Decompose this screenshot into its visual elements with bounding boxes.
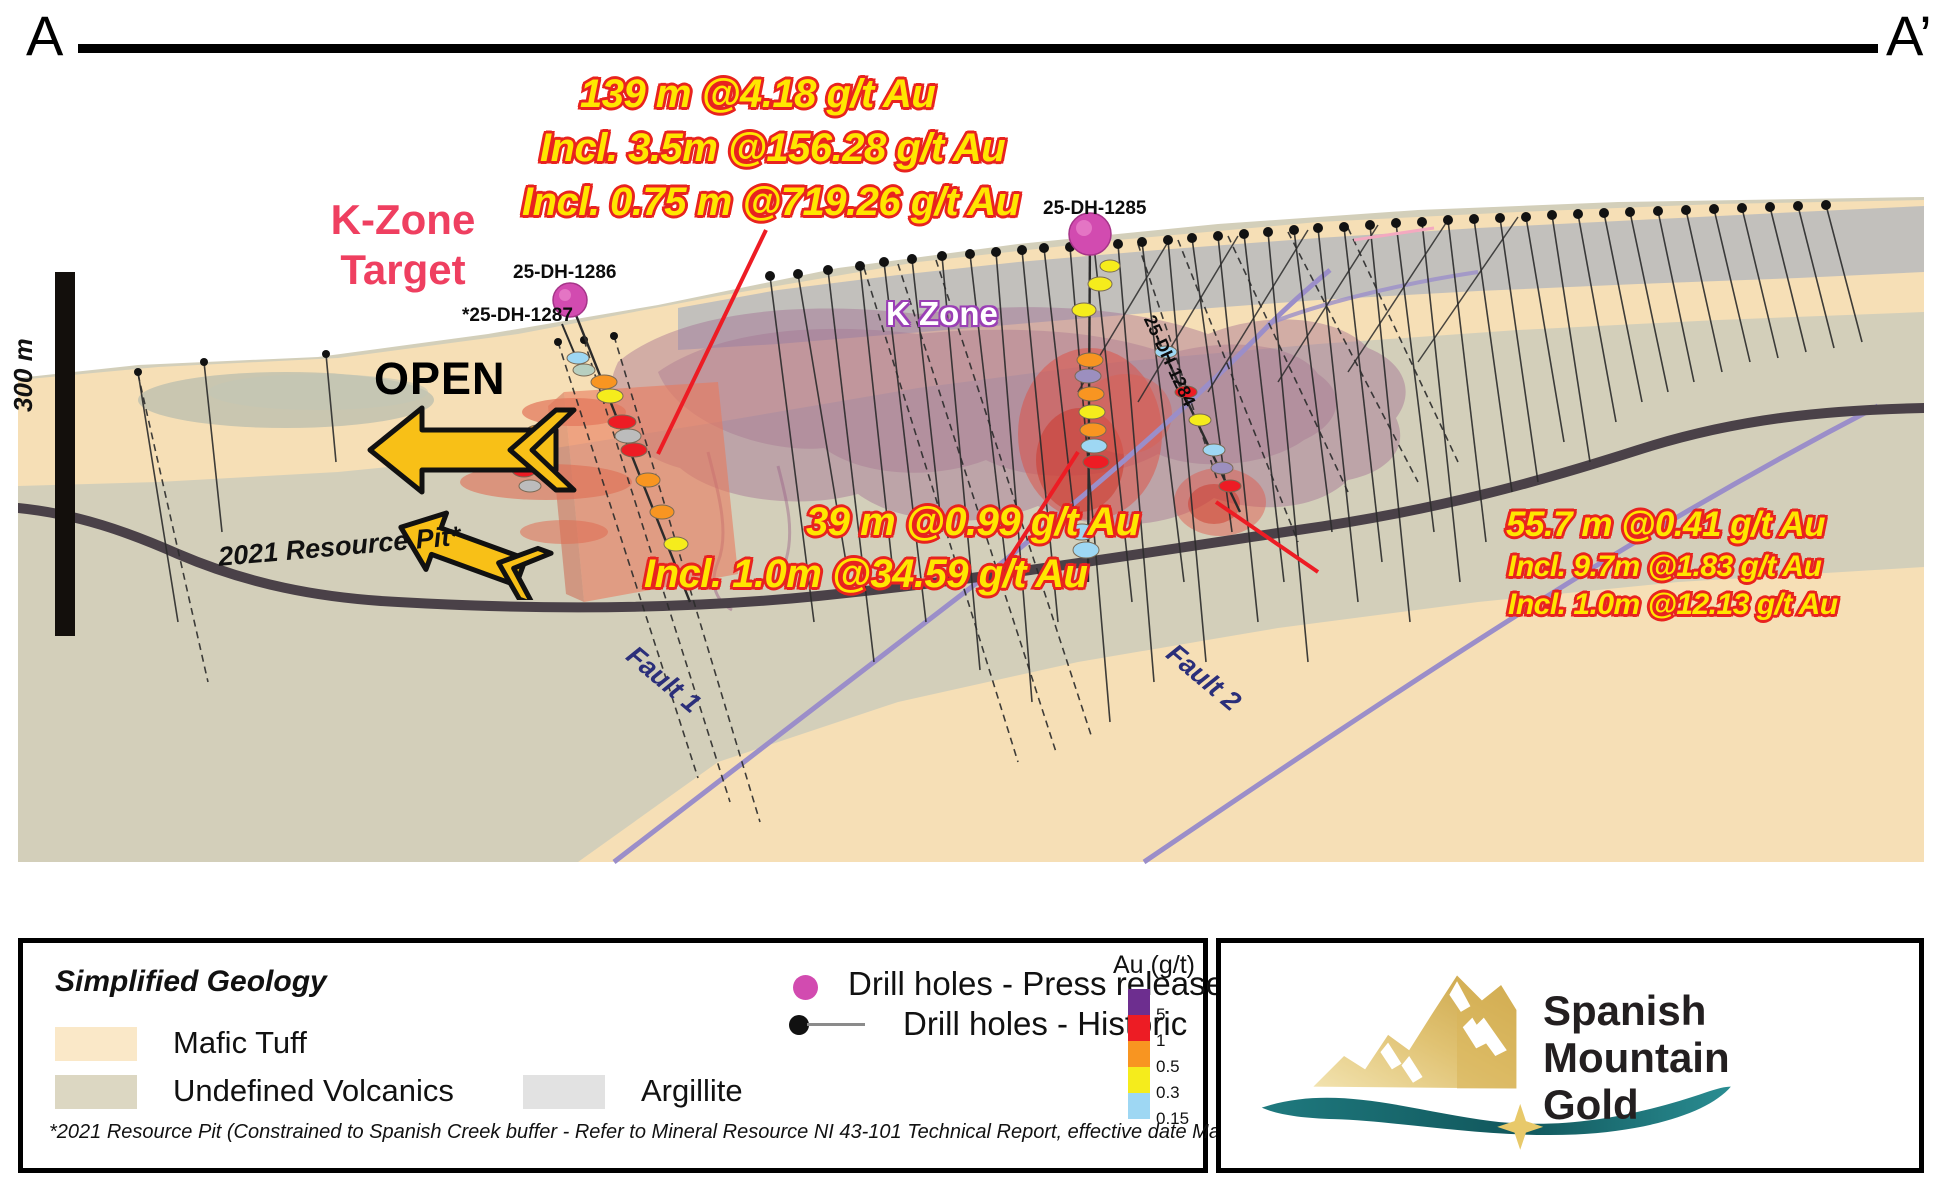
colorbar-tick-1: 1 xyxy=(1156,1031,1165,1051)
colorbar-seg-5 xyxy=(1128,989,1150,1015)
callout-1286-line1: 139 m @4.18 g/t Au xyxy=(580,72,935,117)
colorbar-seg-0-3 xyxy=(1128,1067,1150,1093)
callout-1286-line2: Incl. 3.5m @156.28 g/t Au xyxy=(540,126,1005,171)
legend-label-mafic-tuff: Mafic Tuff xyxy=(173,1025,307,1061)
callout-1285-line2: Incl. 1.0m @34.59 g/t Au xyxy=(644,552,1087,597)
legend-panel: Simplified Geology Mafic Tuff Undefined … xyxy=(18,938,1208,1173)
scale-bar-label: 300 m xyxy=(8,338,39,412)
colorbar-tick-0-3: 0.3 xyxy=(1156,1083,1180,1103)
k-zone-target-line1: K-Zone xyxy=(283,195,523,245)
open-label: OPEN xyxy=(374,353,506,405)
au-colorbar xyxy=(1128,989,1150,1119)
legend-label-undefined-volcanics: Undefined Volcanics xyxy=(173,1073,454,1109)
drill-label-25-dh-1286: 25-DH-1286 xyxy=(513,262,617,284)
section-label-a: A xyxy=(26,8,63,64)
drill-label-25-dh-1285: 25-DH-1285 xyxy=(1043,198,1147,220)
logo-line-1: Spanish xyxy=(1543,987,1730,1034)
k-zone-target-label: K-Zone Target xyxy=(283,195,523,294)
callout-1286-line3: Incl. 0.75 m @719.26 g/t Au xyxy=(522,180,1020,225)
legend-historic-dot-icon xyxy=(789,1015,809,1035)
legend-press-release-dot-icon xyxy=(793,975,818,1000)
colorbar-title: Au (g/t) xyxy=(1113,951,1195,980)
colorbar-tick-5: 5 xyxy=(1156,1005,1165,1025)
open-arrow-large xyxy=(360,400,580,500)
colorbar-seg-1 xyxy=(1128,1015,1150,1041)
legend-swatch-mafic-tuff xyxy=(55,1027,137,1061)
legend-swatch-undefined-volcanics xyxy=(55,1075,137,1109)
section-line xyxy=(78,44,1878,53)
legend-title: Simplified Geology xyxy=(55,965,327,999)
company-logo-panel: Spanish Mountain Gold xyxy=(1216,938,1924,1173)
logo-wordmark: Spanish Mountain Gold xyxy=(1543,987,1730,1128)
colorbar-tick-0-5: 0.5 xyxy=(1156,1057,1180,1077)
callout-1284-line1: 55.7 m @0.41 g/t Au xyxy=(1506,505,1825,545)
scale-bar xyxy=(55,272,75,636)
legend-historic-line-icon xyxy=(807,1023,865,1026)
callout-1284-line3: Incl. 1.0m @12.13 g/t Au xyxy=(1508,588,1838,622)
legend-label-argillite: Argillite xyxy=(641,1073,743,1109)
callout-1284-line2: Incl. 9.7m @1.83 g/t Au xyxy=(1508,550,1821,584)
k-zone-body-label: K Zone xyxy=(886,295,998,333)
legend-footnote: *2021 Resource Pit (Constrained to Spani… xyxy=(49,1121,1287,1144)
callout-1285-line1: 39 m @0.99 g/t Au xyxy=(806,500,1140,545)
logo-line-2: Mountain xyxy=(1543,1034,1730,1081)
logo-line-3: Gold xyxy=(1543,1081,1730,1128)
k-zone-target-line2: Target xyxy=(283,245,523,295)
cross-section-figure: A A’ xyxy=(0,0,1942,1188)
drill-label-25-dh-1287: *25-DH-1287 xyxy=(462,305,573,327)
legend-swatch-argillite xyxy=(523,1075,605,1109)
colorbar-seg-0-15 xyxy=(1128,1093,1150,1119)
section-label-a-prime: A’ xyxy=(1886,8,1932,64)
colorbar-seg-0-5 xyxy=(1128,1041,1150,1067)
